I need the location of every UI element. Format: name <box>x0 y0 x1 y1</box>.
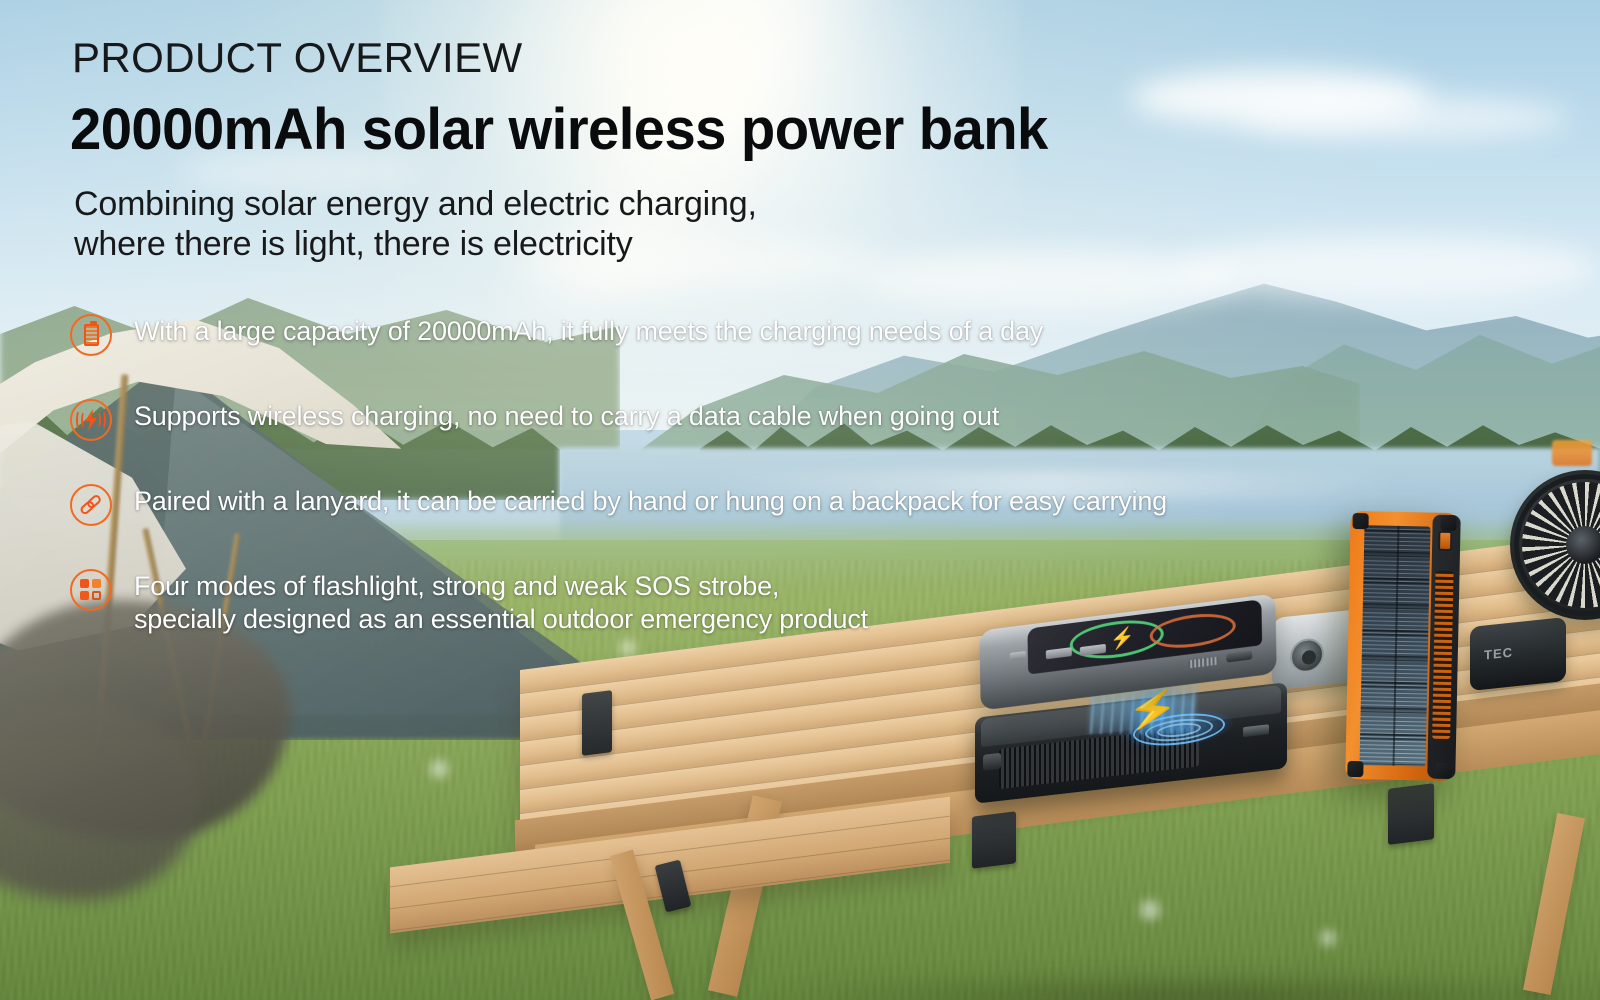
chain-link-icon <box>70 484 112 526</box>
subheading: Combining solar energy and electric char… <box>74 184 757 264</box>
feature-item-capacity: With a large capacity of 20000mAh, it fu… <box>70 312 1043 356</box>
feature-line-2: specially designed as an essential outdo… <box>134 603 868 636</box>
feature-line-1: With a large capacity of 20000mAh, it fu… <box>134 315 1043 348</box>
wireless-glyph <box>76 409 106 431</box>
feature-line-1: Paired with a lanyard, it can be carried… <box>134 485 1167 518</box>
eyebrow-label: PRODUCT OVERVIEW <box>72 34 523 82</box>
wireless-charging-icon <box>70 399 112 441</box>
product-overview-banner: TEC <box>0 0 1600 1000</box>
grid-square <box>80 591 89 600</box>
feature-line-1: Supports wireless charging, no need to c… <box>134 400 999 433</box>
feature-text: Four modes of flashlight, strong and wea… <box>134 567 868 636</box>
feature-item-flashlight: Four modes of flashlight, strong and wea… <box>70 567 868 636</box>
four-squares-grid-icon <box>70 569 112 611</box>
grid-square <box>80 579 89 588</box>
page-title: 20000mAh solar wireless power bank <box>70 96 1048 163</box>
grid-square-outline <box>92 591 101 600</box>
grid-square <box>92 579 101 588</box>
feature-line-1: Four modes of flashlight, strong and wea… <box>134 570 868 603</box>
bolt-glyph <box>84 409 98 431</box>
feature-text: Paired with a lanyard, it can be carried… <box>134 482 1167 518</box>
subheading-line-2: where there is light, there is electrici… <box>74 224 757 264</box>
feature-item-lanyard: Paired with a lanyard, it can be carried… <box>70 482 1167 526</box>
banner-content: PRODUCT OVERVIEW 20000mAh solar wireless… <box>0 0 1600 1000</box>
link-glyph <box>74 488 108 522</box>
grid-glyph <box>80 579 102 601</box>
battery-glyph <box>84 324 99 346</box>
feature-item-wireless: Supports wireless charging, no need to c… <box>70 397 999 441</box>
feature-text: Supports wireless charging, no need to c… <box>134 397 999 433</box>
subheading-line-1: Combining solar energy and electric char… <box>74 184 757 224</box>
battery-icon <box>70 314 112 356</box>
feature-text: With a large capacity of 20000mAh, it fu… <box>134 312 1043 348</box>
